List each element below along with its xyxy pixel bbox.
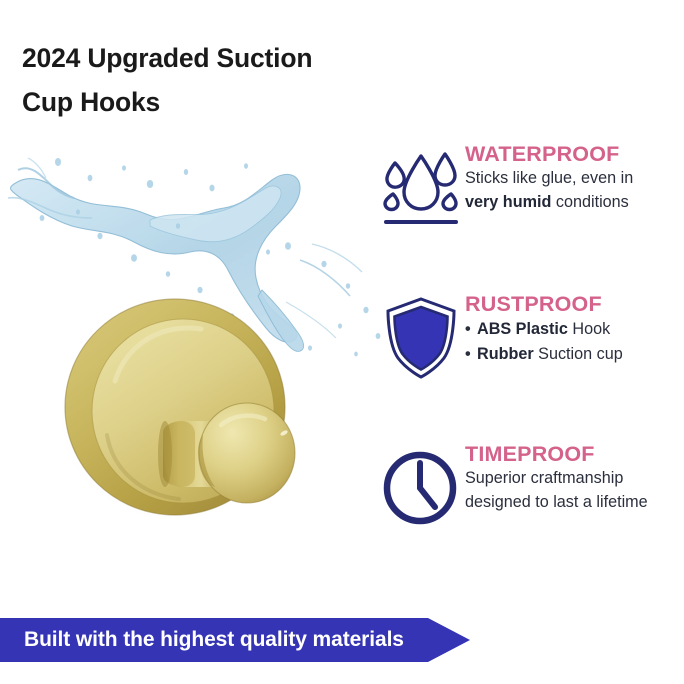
feature-rustproof-bullet-1-bold: ABS Plastic: [477, 320, 568, 338]
feature-waterproof: WATERPROOF Sticks like glue, even in ver…: [382, 142, 682, 292]
bullet-marker-icon: •: [465, 317, 477, 342]
feature-timeproof-heading: TIMEPROOF: [465, 442, 683, 467]
bottom-banner: Built with the highest quality materials: [0, 618, 470, 662]
feature-rustproof-text: RUSTPROOF •ABS Plastic Hook •Rubber Suct…: [465, 292, 683, 367]
feature-waterproof-line-2-bold: very humid: [465, 193, 551, 211]
product-image: [55, 285, 325, 530]
feature-rustproof-bullet-1-rest: Hook: [568, 320, 610, 338]
water-drops-icon: [382, 146, 460, 230]
bullet-marker-icon: •: [465, 342, 477, 367]
feature-rustproof-bullet-2-rest: Suction cup: [534, 345, 623, 363]
feature-timeproof-text: TIMEPROOF Superior craftmanship designed…: [465, 442, 683, 514]
page-title-line-1: 2024 Upgraded Suction: [22, 36, 422, 80]
feature-waterproof-line-2-rest: conditions: [551, 193, 628, 211]
feature-rustproof-heading: RUSTPROOF: [465, 292, 683, 317]
banner-text: Built with the highest quality materials: [24, 618, 404, 662]
page-title: 2024 Upgraded Suction Cup Hooks: [22, 36, 422, 124]
feature-rustproof-bullet-2-bold: Rubber: [477, 345, 534, 363]
feature-timeproof-line-1: Superior craftmanship: [465, 467, 683, 491]
feature-rustproof-bullet-1: •ABS Plastic Hook: [465, 317, 683, 342]
feature-rustproof-bullet-2: •Rubber Suction cup: [465, 342, 683, 367]
feature-waterproof-line-2: very humid conditions: [465, 191, 683, 215]
feature-waterproof-text: WATERPROOF Sticks like glue, even in ver…: [465, 142, 683, 214]
feature-timeproof: TIMEPROOF Superior craftmanship designed…: [382, 442, 682, 592]
shield-icon: [382, 296, 460, 380]
clock-icon: [382, 446, 460, 530]
feature-waterproof-heading: WATERPROOF: [465, 142, 683, 167]
page-title-line-2: Cup Hooks: [22, 80, 422, 124]
feature-rustproof: RUSTPROOF •ABS Plastic Hook •Rubber Suct…: [382, 292, 682, 442]
feature-list: WATERPROOF Sticks like glue, even in ver…: [382, 142, 682, 592]
feature-waterproof-line-1: Sticks like glue, even in: [465, 167, 683, 191]
feature-timeproof-line-2: designed to last a lifetime: [465, 491, 683, 515]
